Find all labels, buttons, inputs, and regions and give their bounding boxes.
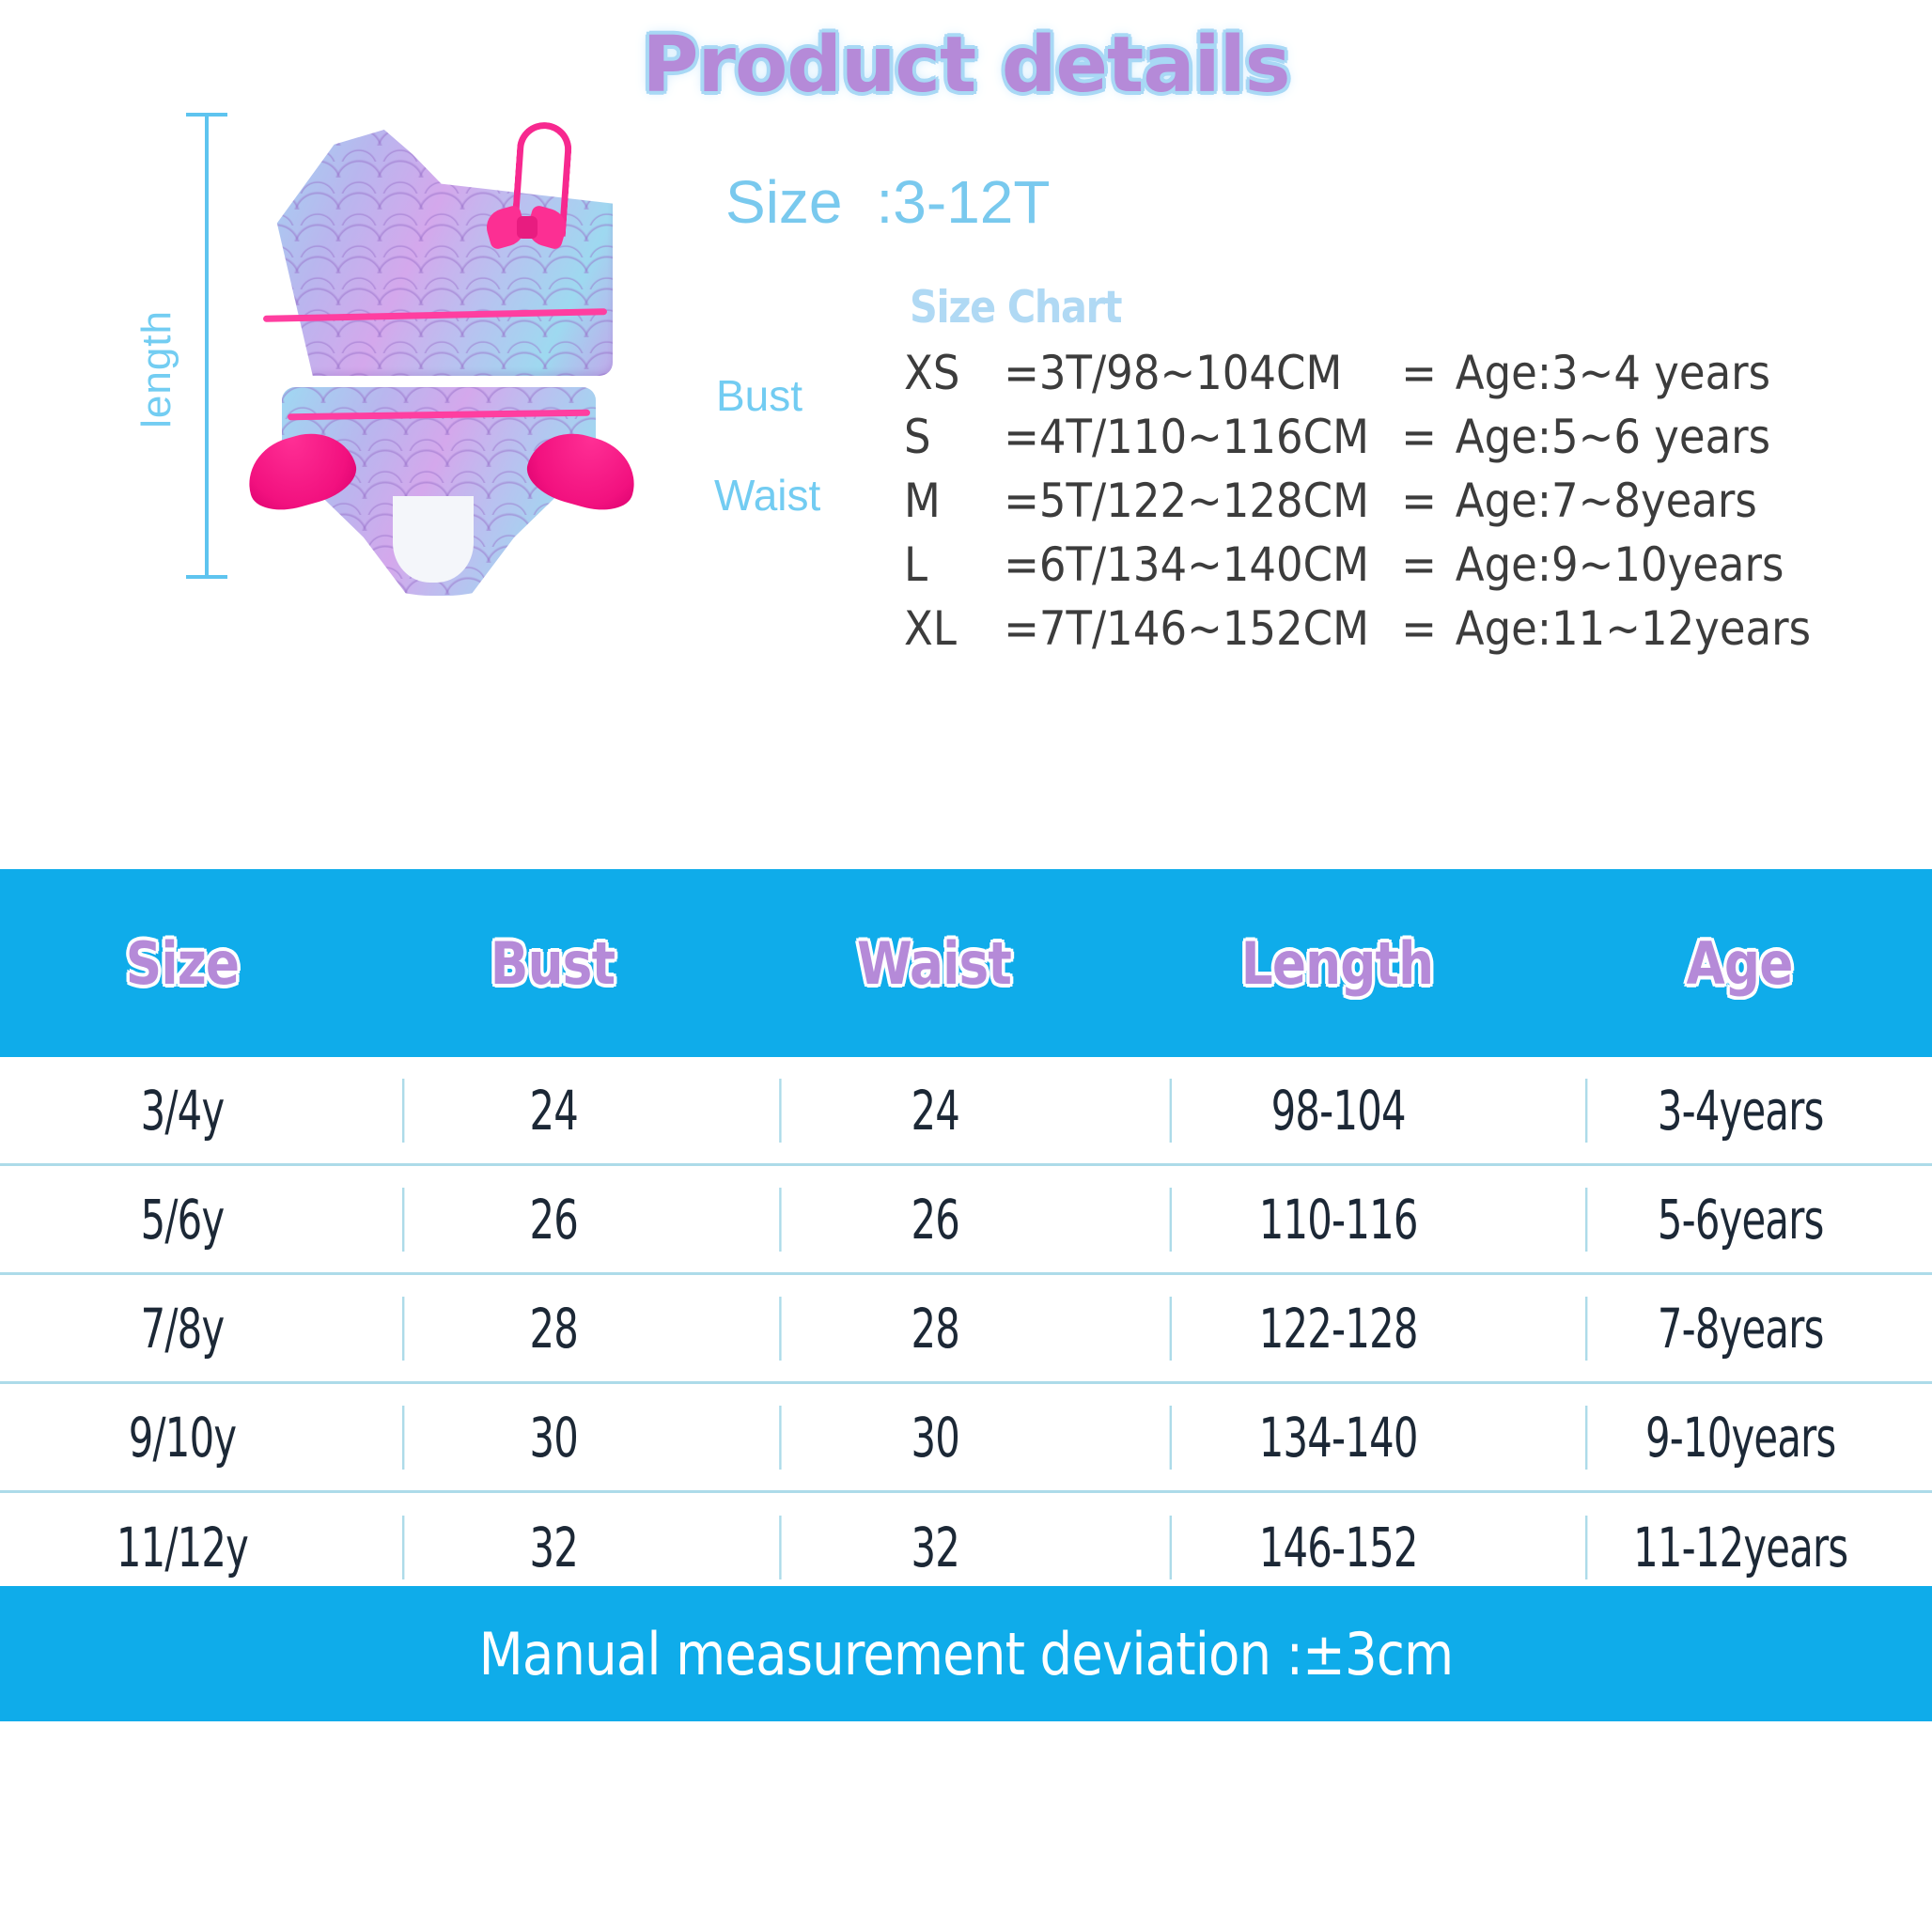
size-heading: Size:3-12T	[725, 167, 1050, 237]
size-code: L	[904, 537, 1004, 592]
size-age: Age:5~6 years	[1456, 410, 1817, 464]
cell-waist: 26	[779, 1188, 1089, 1252]
size-heading-value: 3-12T	[893, 168, 1050, 236]
cell-age: 11-12years	[1585, 1516, 1893, 1579]
size-heading-label: Size	[725, 168, 843, 236]
size-equals: =	[1401, 346, 1456, 400]
cell-age: 5-6years	[1585, 1188, 1893, 1252]
length-measure-cap-bottom	[186, 575, 227, 579]
size-conversion-row: XL =7T/146~152CM = Age:11~12years	[904, 601, 1817, 665]
column-header-size: Size	[25, 929, 339, 998]
cell-bust: 30	[402, 1406, 703, 1470]
footer-banner: Manual measurement deviation :±3cm	[0, 1586, 1932, 1721]
column-header-length: Length	[1157, 929, 1518, 998]
size-metric: =7T/146~152CM	[1004, 601, 1401, 656]
cell-length: 110-116	[1170, 1188, 1505, 1252]
size-heading-separator: :	[877, 168, 894, 236]
size-conversion-row: XS =3T/98~104CM = Age:3~4 years	[904, 346, 1817, 410]
size-conversion-row: M =5T/122~128CM = Age:7~8years	[904, 474, 1817, 537]
table-row: 9/10y 30 30 134-140 9-10years	[0, 1384, 1932, 1493]
cell-size: 5/6y	[37, 1188, 328, 1252]
column-header-bust: Bust	[391, 929, 714, 998]
size-age: Age:11~12years	[1456, 601, 1817, 656]
cell-age: 3-4years	[1585, 1079, 1893, 1143]
swimsuit-lining	[393, 496, 474, 583]
cell-age: 9-10years	[1585, 1406, 1893, 1470]
column-header-waist: Waist	[768, 929, 1100, 998]
size-table: Size Bust Waist Length Age 3/4y 24 24 98…	[0, 869, 1932, 1602]
cell-length: 134-140	[1170, 1406, 1505, 1470]
size-metric: =3T/98~104CM	[1004, 346, 1401, 400]
cell-age: 7-8years	[1585, 1297, 1893, 1361]
size-metric: =5T/122~128CM	[1004, 474, 1401, 528]
bust-label: Bust	[716, 370, 802, 421]
table-row: 3/4y 24 24 98-104 3-4years	[0, 1057, 1932, 1166]
column-header-age: Age	[1574, 929, 1906, 998]
cell-waist: 28	[779, 1297, 1089, 1361]
bow-icon	[487, 207, 566, 248]
cell-bust: 24	[402, 1079, 703, 1143]
size-code: XS	[904, 346, 1004, 400]
size-conversion-row: S =4T/110~116CM = Age:5~6 years	[904, 410, 1817, 474]
cell-waist: 24	[779, 1079, 1089, 1143]
size-code: S	[904, 410, 1004, 464]
size-code: M	[904, 474, 1004, 528]
size-equals: =	[1401, 410, 1456, 464]
size-age: Age:9~10years	[1456, 537, 1817, 592]
table-body: 3/4y 24 24 98-104 3-4years 5/6y 26 26 11…	[0, 1057, 1932, 1602]
size-age: Age:7~8years	[1456, 474, 1817, 528]
cell-length: 146-152	[1170, 1516, 1505, 1579]
cell-bust: 32	[402, 1516, 703, 1579]
cell-size: 7/8y	[37, 1297, 328, 1361]
cell-bust: 28	[402, 1297, 703, 1361]
size-conversion-row: L =6T/134~140CM = Age:9~10years	[904, 537, 1817, 601]
size-equals: =	[1401, 537, 1456, 592]
cell-length: 98-104	[1170, 1079, 1505, 1143]
product-illustration: length	[141, 113, 667, 620]
cell-size: 9/10y	[37, 1406, 328, 1470]
cell-size: 11/12y	[37, 1516, 328, 1579]
size-equals: =	[1401, 474, 1456, 528]
table-header-row: Size Bust Waist Length Age	[0, 869, 1932, 1057]
cell-length: 122-128	[1170, 1297, 1505, 1361]
size-chart-subtitle: Size Chart	[910, 282, 1121, 334]
waist-label: Waist	[714, 470, 820, 521]
size-code: XL	[904, 601, 1004, 656]
size-age: Age:3~4 years	[1456, 346, 1817, 400]
cell-size: 3/4y	[37, 1079, 328, 1143]
length-measure-cap-top	[186, 113, 227, 117]
size-metric: =4T/110~116CM	[1004, 410, 1401, 464]
product-details-page: Product details length Bust Waist Size:3…	[0, 0, 1932, 1929]
table-row: 5/6y 26 26 110-116 5-6years	[0, 1166, 1932, 1275]
measurement-deviation-note: Manual measurement deviation :±3cm	[479, 1620, 1454, 1688]
size-metric: =6T/134~140CM	[1004, 537, 1401, 592]
size-conversion-list: XS =3T/98~104CM = Age:3~4 years S =4T/11…	[904, 346, 1919, 665]
size-equals: =	[1401, 601, 1456, 656]
cell-waist: 32	[779, 1516, 1089, 1579]
bow-knot	[517, 216, 538, 239]
cell-bust: 26	[402, 1188, 703, 1252]
page-title: Product details	[0, 21, 1932, 110]
table-row: 7/8y 28 28 122-128 7-8years	[0, 1275, 1932, 1384]
swimsuit-graphic	[235, 113, 648, 592]
cell-waist: 30	[779, 1406, 1089, 1470]
